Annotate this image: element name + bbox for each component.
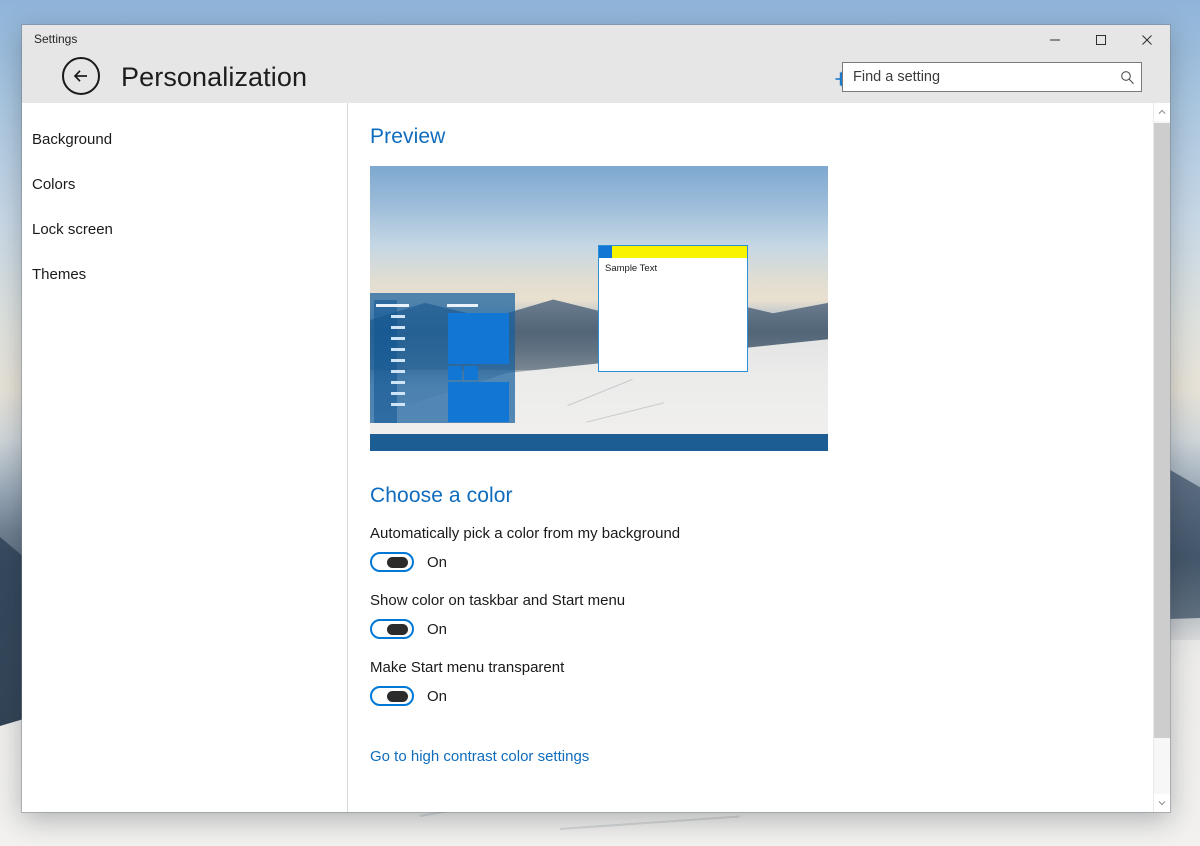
preview-sample-window-system-icon (599, 246, 612, 258)
preview-start-app-entry (391, 381, 405, 384)
minimize-button[interactable] (1032, 25, 1078, 55)
toggle-state-label: On (427, 688, 447, 705)
choose-color-heading: Choose a color (370, 484, 1170, 508)
preview-sample-window-titlebar (599, 246, 747, 258)
toggle-knob (387, 557, 408, 568)
sidebar-item-label: Themes (32, 266, 86, 283)
preview-start-tile (448, 313, 509, 364)
preview-start-app-entry (391, 359, 405, 362)
sidebar-item-lock-screen[interactable]: Lock screen (22, 207, 347, 252)
preview-start-app-entry (391, 348, 405, 351)
maximize-button[interactable] (1078, 25, 1124, 55)
setting-show-color-taskbar-start: Show color on taskbar and Start menu On (370, 592, 1170, 639)
setting-label: Make Start menu transparent (370, 659, 1170, 676)
window-body: Background Colors Lock screen Themes Pre… (22, 103, 1170, 812)
back-button[interactable] (62, 57, 100, 95)
preview-thumbnail: Sample Text (370, 166, 828, 451)
toggle-line: On (370, 686, 1170, 706)
preview-sample-window: Sample Text (598, 245, 748, 372)
toggle-state-label: On (427, 621, 447, 638)
app-title: Settings (34, 32, 77, 46)
close-button[interactable] (1124, 25, 1170, 55)
preview-start-header-bar (447, 304, 478, 307)
high-contrast-settings-link[interactable]: Go to high contrast color settings (370, 748, 589, 765)
toggle-knob (387, 691, 408, 702)
preview-start-app-entry (391, 392, 405, 395)
preview-heading: Preview (370, 125, 1170, 149)
scrollbar-thumb[interactable] (1154, 123, 1170, 738)
search-icon[interactable] (1113, 63, 1141, 91)
preview-start-app-entry (391, 403, 405, 406)
page-title: Personalization (121, 55, 307, 99)
preview-start-header-bar (376, 304, 409, 307)
preview-start-app-entry (391, 326, 405, 329)
search-box[interactable] (842, 62, 1142, 92)
sidebar-nav: Background Colors Lock screen Themes (22, 103, 348, 812)
preview-start-tile (448, 382, 509, 422)
toggle-show-color-taskbar-start[interactable] (370, 619, 414, 639)
search-input[interactable] (843, 69, 1113, 85)
preview-start-app-entry (391, 315, 405, 318)
preview-start-app-entry (391, 370, 405, 373)
sidebar-item-label: Lock screen (32, 221, 113, 238)
toggle-line: On (370, 619, 1170, 639)
sidebar-item-label: Colors (32, 176, 75, 193)
sidebar-item-colors[interactable]: Colors (22, 162, 347, 207)
preview-taskbar (370, 434, 828, 451)
preview-start-tile (464, 366, 478, 380)
preview-sample-text: Sample Text (599, 258, 747, 274)
desktop-wallpaper: Settings Personalization (0, 0, 1200, 846)
scrollbar-track[interactable] (1154, 121, 1170, 794)
toggle-line: On (370, 552, 1170, 572)
sidebar-item-background[interactable]: Background (22, 117, 347, 162)
toggle-state-label: On (427, 554, 447, 571)
toggle-knob (387, 624, 408, 635)
content-scrollbar[interactable] (1153, 103, 1170, 812)
sidebar-item-themes[interactable]: Themes (22, 252, 347, 297)
arrow-left-icon (71, 66, 91, 86)
settings-content: Preview (348, 103, 1170, 812)
window-titlebar[interactable]: Settings (22, 25, 1170, 55)
scroll-up-arrow-icon[interactable] (1154, 103, 1170, 121)
toggle-start-menu-transparent[interactable] (370, 686, 414, 706)
sidebar-item-label: Background (32, 131, 112, 148)
toggle-auto-pick-color[interactable] (370, 552, 414, 572)
preview-start-tile (448, 366, 462, 380)
choose-a-color-section: Choose a color Automatically pick a colo… (370, 484, 1170, 766)
settings-window: Settings Personalization (22, 25, 1170, 812)
setting-auto-pick-color: Automatically pick a color from my backg… (370, 525, 1170, 572)
setting-label: Show color on taskbar and Start menu (370, 592, 1170, 609)
setting-label: Automatically pick a color from my backg… (370, 525, 1170, 542)
preview-start-menu (370, 293, 515, 423)
scroll-down-arrow-icon[interactable] (1154, 794, 1170, 812)
setting-start-menu-transparent: Make Start menu transparent On (370, 659, 1170, 706)
page-header: Personalization (22, 55, 1170, 103)
preview-start-app-entry (391, 337, 405, 340)
